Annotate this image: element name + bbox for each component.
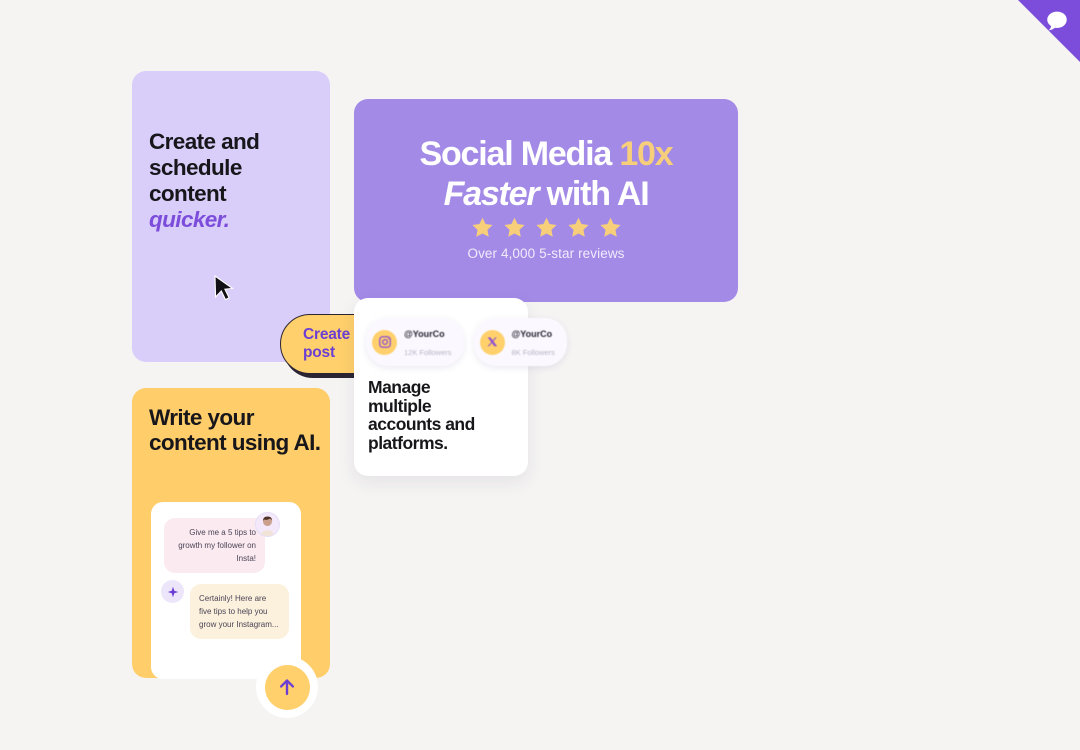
write-card-headline: Write your content using AI. (149, 405, 325, 455)
send-button-ring (256, 656, 318, 718)
write-content-card: Write your content using AI. Give me a 5… (132, 388, 330, 678)
account-chip-text: @YourCo 8K Followers (512, 324, 555, 360)
sparkle-icon (167, 586, 179, 598)
manage-card-title: Manage multiple accounts and platforms. (368, 378, 520, 452)
star-icon-2 (503, 216, 526, 239)
instagram-icon (372, 330, 397, 355)
headline-line-2: schedule (149, 155, 242, 180)
star-icon-1 (471, 216, 494, 239)
account-chip-row: @YourCo 12K Followers @YourCo 8K Followe… (366, 318, 567, 366)
avatar (255, 512, 280, 537)
account-followers: 8K Followers (512, 348, 555, 357)
chat-message-user: Give me a 5 tips to growth my follower o… (164, 518, 265, 573)
account-chip-x[interactable]: @YourCo 8K Followers (474, 318, 567, 366)
headline-line-3: content (149, 181, 226, 206)
chat-panel: Give me a 5 tips to growth my follower o… (151, 502, 301, 679)
manage-title-line-3: accounts and (368, 414, 475, 434)
manage-title-line-2: multiple (368, 396, 431, 416)
create-post-button-label: Create post (303, 326, 356, 362)
corner-badge[interactable] (1018, 0, 1080, 62)
star-icon-3 (535, 216, 558, 239)
headline-accent: quicker. (149, 207, 229, 232)
page-root: Create and schedule content quicker. Cre… (0, 0, 1080, 750)
account-followers: 12K Followers (404, 348, 452, 357)
x-twitter-icon (480, 330, 505, 355)
hero-title-highlight: 10x (619, 135, 672, 173)
reviews-caption: Over 4,000 5-star reviews (354, 246, 738, 261)
star-icon-4 (567, 216, 590, 239)
account-chip-text: @YourCo 12K Followers (404, 324, 452, 360)
write-headline-line-2: content using AI. (149, 430, 320, 455)
manage-title-line-1: Manage (368, 377, 430, 397)
manage-accounts-card: @YourCo 12K Followers @YourCo 8K Followe… (354, 298, 528, 476)
manage-title-line-4: platforms. (368, 433, 448, 453)
chat-message-ai: Certainly! Here are five tips to help yo… (190, 584, 289, 639)
hero-title: Social Media 10x Faster with AI (354, 134, 738, 214)
send-button[interactable] (265, 665, 310, 710)
ai-sparkle-badge (161, 580, 184, 603)
hero-title-part1: Social Media (420, 135, 620, 173)
headline-line-1: Create and (149, 129, 259, 154)
create-schedule-card: Create and schedule content quicker. Cre… (132, 71, 330, 362)
hero-title-part3: with AI (538, 175, 648, 213)
arrow-up-icon (276, 676, 298, 698)
chat-bubble-icon (1044, 9, 1070, 35)
create-card-headline: Create and schedule content quicker. (149, 129, 321, 233)
hero-title-part2: Faster (444, 175, 539, 213)
account-handle: @YourCo (512, 329, 553, 339)
star-icon-5 (599, 216, 622, 239)
account-handle: @YourCo (404, 329, 445, 339)
hero-card: Social Media 10x Faster with AI Over 4,0… (354, 99, 738, 302)
write-headline-line-1: Write your (149, 405, 254, 430)
star-rating (354, 216, 738, 239)
account-chip-instagram[interactable]: @YourCo 12K Followers (366, 318, 464, 366)
